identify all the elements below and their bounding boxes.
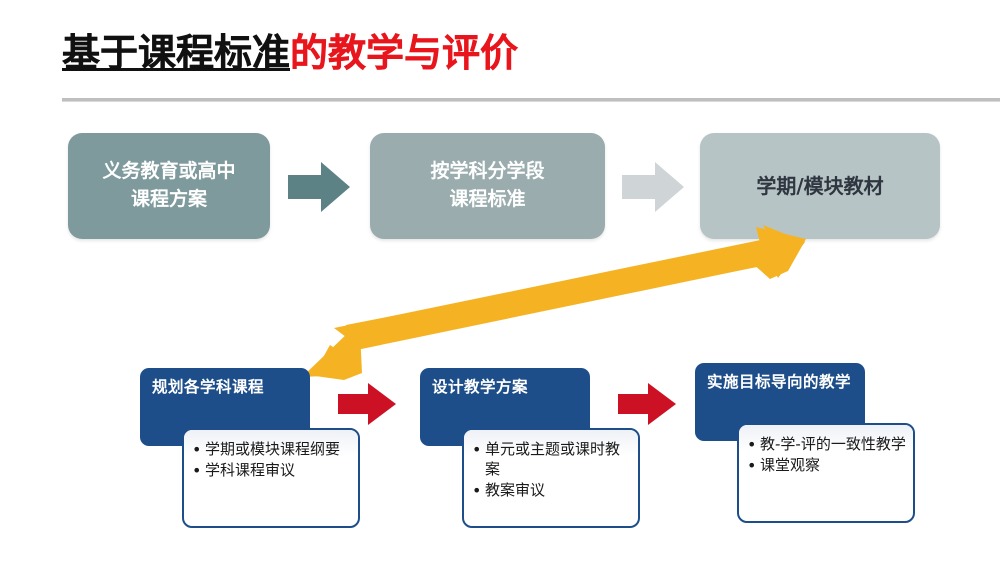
stage-bullet-list: 学期或模块课程纲要 学科课程审议	[192, 440, 352, 481]
list-item: 教案审议	[472, 481, 632, 501]
stage-detail-card: 教-学-评的一致性教学 课堂观察	[737, 423, 915, 523]
block-arrow-right-icon	[622, 160, 684, 214]
red-arrow-right-icon	[338, 382, 396, 426]
page-title-accent: 的教学与评价	[290, 31, 518, 75]
stage-detail-card: 单元或主题或课时教案 教案审议	[462, 428, 640, 528]
process-box-curriculum-plan[interactable]: 义务教育或高中 课程方案	[68, 133, 270, 239]
list-item: 学科课程审议	[192, 461, 352, 481]
stage-group-plan[interactable]: 规划各学科课程 学期或模块课程纲要 学科课程审议	[140, 368, 365, 528]
list-item: 课堂观察	[747, 456, 907, 476]
gold-double-arrow-icon	[300, 225, 810, 385]
red-arrow-right-icon	[618, 382, 676, 426]
process-box-label: 学期/模块教材	[756, 172, 883, 201]
page-title-primary: 基于课程标准	[62, 31, 290, 75]
process-box-term-module-material[interactable]: 学期/模块教材	[700, 133, 940, 239]
process-box-subject-standards[interactable]: 按学科分学段 课程标准	[370, 133, 605, 239]
page-title: 基于课程标准的教学与评价	[62, 34, 518, 72]
list-item: 单元或主题或课时教案	[472, 440, 632, 480]
process-box-label: 义务教育或高中 课程方案	[102, 158, 235, 213]
stage-bullet-list: 教-学-评的一致性教学 课堂观察	[747, 435, 907, 476]
stage-group-implement[interactable]: 实施目标导向的教学 教-学-评的一致性教学 课堂观察	[695, 363, 920, 523]
stage-bullet-list: 单元或主题或课时教案 教案审议	[472, 440, 632, 500]
list-item: 学期或模块课程纲要	[192, 440, 352, 460]
title-divider	[62, 98, 1000, 102]
block-arrow-right-icon	[288, 160, 350, 214]
process-box-label: 按学科分学段 课程标准	[430, 158, 544, 213]
slide-canvas: 基于课程标准的教学与评价 义务教育或高中 课程方案 按学科分学段 课程标准 学期…	[0, 0, 1000, 562]
stage-group-design[interactable]: 设计教学方案 单元或主题或课时教案 教案审议	[420, 368, 645, 528]
list-item: 教-学-评的一致性教学	[747, 435, 907, 455]
stage-detail-card: 学期或模块课程纲要 学科课程审议	[182, 428, 360, 528]
